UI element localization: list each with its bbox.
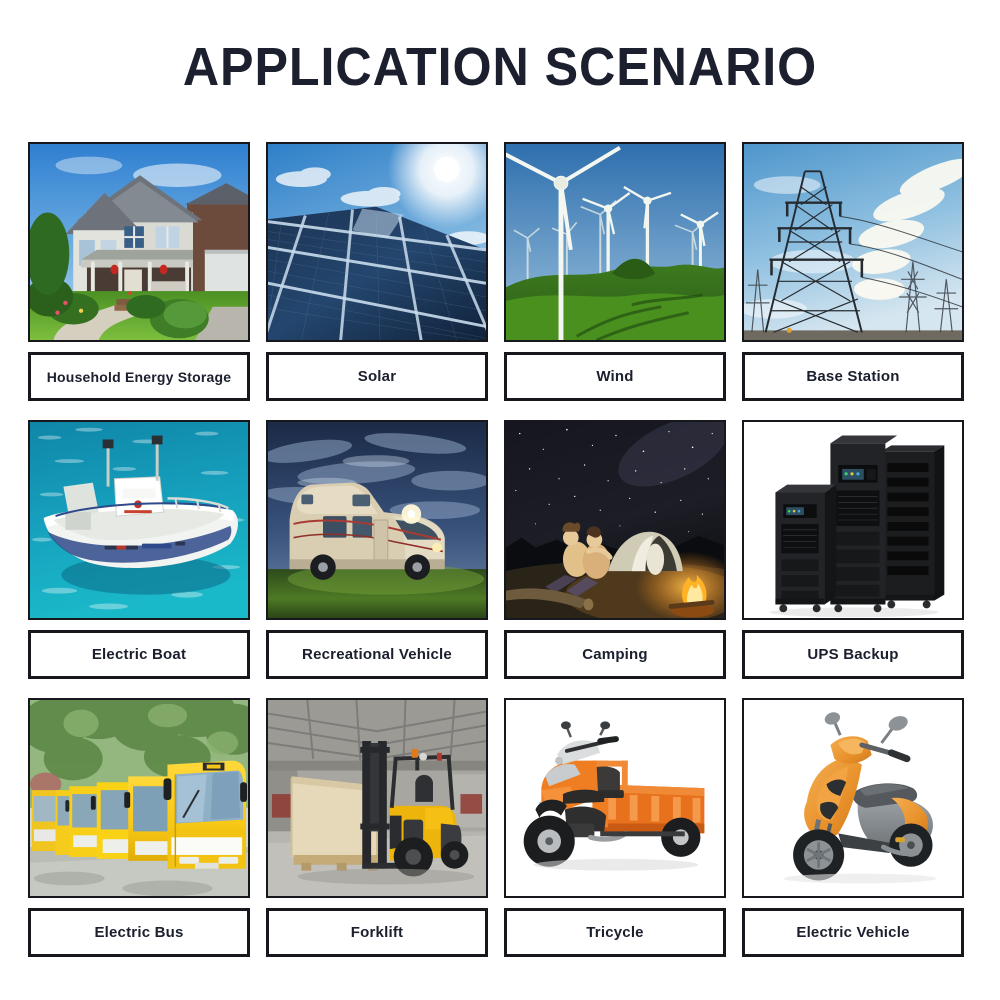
- scenario-label-text: UPS Backup: [807, 646, 898, 663]
- scenario-image-electric-boat: [28, 420, 250, 620]
- boat-illustration: [30, 422, 248, 618]
- scenario-label-text: Tricycle: [586, 924, 643, 941]
- scenario-label-solar: Solar: [266, 352, 488, 401]
- house-illustration: [30, 144, 248, 340]
- scenario-label-text: Electric Boat: [92, 646, 186, 663]
- scenario-label-text: Camping: [582, 646, 648, 663]
- ups-cabinet-illustration: [744, 422, 962, 618]
- scenario-image-wind: [504, 142, 726, 342]
- bus-illustration: [30, 700, 248, 896]
- scenario-label-text: Electric Bus: [94, 924, 183, 941]
- scenario-card-camping[interactable]: Camping: [504, 420, 726, 679]
- scenario-label-base-station: Base Station: [742, 352, 964, 401]
- scenario-label-forklift: Forklift: [266, 908, 488, 957]
- scenario-label-text: Solar: [358, 368, 397, 385]
- scenario-label-text: Wind: [596, 368, 633, 385]
- scenario-image-recreational-vehicle: [266, 420, 488, 620]
- scenario-card-electric-vehicle[interactable]: Electric Vehicle: [742, 698, 964, 957]
- scenario-label-text: Recreational Vehicle: [302, 646, 452, 663]
- scenario-label-camping: Camping: [504, 630, 726, 679]
- scenario-card-electric-bus[interactable]: Electric Bus: [28, 698, 250, 957]
- transmission-tower-illustration: [744, 144, 962, 340]
- scenario-image-ups-backup: [742, 420, 964, 620]
- cargo-tricycle-illustration: [506, 700, 724, 896]
- scenario-card-household-energy-storage[interactable]: Household Energy Storage: [28, 142, 250, 401]
- motorhome-illustration: [268, 422, 486, 618]
- scenario-image-camping: [504, 420, 726, 620]
- scenario-label-electric-vehicle: Electric Vehicle: [742, 908, 964, 957]
- page-title: APPLICATION SCENARIO: [35, 0, 965, 94]
- scenario-image-base-station: [742, 142, 964, 342]
- scenario-label-electric-bus: Electric Bus: [28, 908, 250, 957]
- forklift-illustration: [268, 700, 486, 896]
- scenario-image-tricycle: [504, 698, 726, 898]
- camping-illustration: [506, 422, 724, 618]
- solar-panel-illustration: [268, 144, 486, 340]
- scenario-card-wind[interactable]: Wind: [504, 142, 726, 401]
- scenario-label-tricycle: Tricycle: [504, 908, 726, 957]
- scenario-label-text: Base Station: [806, 368, 899, 385]
- scenario-label-wind: Wind: [504, 352, 726, 401]
- scenario-image-household-energy-storage: [28, 142, 250, 342]
- scenario-label-text: Household Energy Storage: [47, 369, 232, 385]
- electric-scooter-illustration: [744, 700, 962, 896]
- wind-turbine-illustration: [506, 144, 724, 340]
- scenario-card-solar[interactable]: Solar: [266, 142, 488, 401]
- scenario-card-base-station[interactable]: Base Station: [742, 142, 964, 401]
- scenario-label-text: Forklift: [351, 924, 403, 941]
- scenario-card-forklift[interactable]: Forklift: [266, 698, 488, 957]
- scenario-image-electric-vehicle: [742, 698, 964, 898]
- scenario-card-ups-backup[interactable]: UPS Backup: [742, 420, 964, 679]
- scenario-label-text: Electric Vehicle: [796, 924, 909, 941]
- scenario-label-recreational-vehicle: Recreational Vehicle: [266, 630, 488, 679]
- scenario-label-ups-backup: UPS Backup: [742, 630, 964, 679]
- scenario-card-tricycle[interactable]: Tricycle: [504, 698, 726, 957]
- scenario-image-forklift: [266, 698, 488, 898]
- scenario-card-electric-boat[interactable]: Electric Boat: [28, 420, 250, 679]
- application-scenario-page: APPLICATION SCENARIO: [0, 0, 1000, 1000]
- scenario-grid: Household Energy Storage: [28, 142, 972, 957]
- scenario-label-electric-boat: Electric Boat: [28, 630, 250, 679]
- scenario-image-solar: [266, 142, 488, 342]
- scenario-card-recreational-vehicle[interactable]: Recreational Vehicle: [266, 420, 488, 679]
- scenario-image-electric-bus: [28, 698, 250, 898]
- scenario-label-household-energy-storage: Household Energy Storage: [28, 352, 250, 401]
